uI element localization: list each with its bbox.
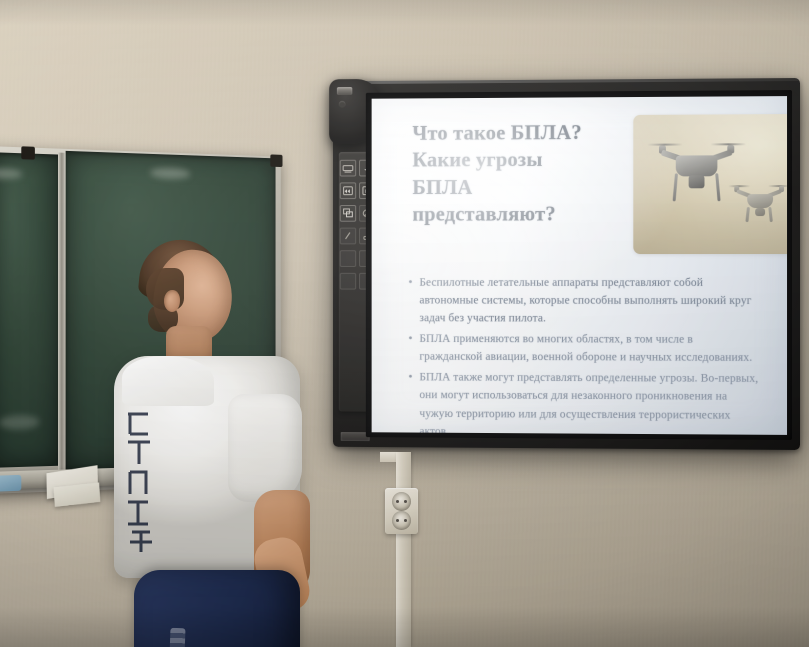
chalkboard-corner-bracket: [21, 146, 35, 159]
slide-title: Что такое БПЛА? Какие угрозы БПЛА предст…: [412, 119, 622, 228]
bullet-marker: •: [408, 330, 412, 366]
floor-shadow: [0, 607, 809, 647]
student-presenter: [108, 238, 320, 647]
outlet-socket: [392, 511, 411, 530]
photo-haze-overlay: [633, 114, 787, 254]
bullet-text-3: БПЛА также могут представлять определенн…: [419, 369, 759, 435]
keyboard-icon[interactable]: [339, 160, 355, 177]
slide-bullet-list: • Беспилотные летательные аппараты предс…: [408, 274, 759, 435]
projector-lens: [337, 87, 352, 95]
chalkboard-panel-left: [0, 152, 59, 468]
pen-icon[interactable]: [339, 228, 355, 245]
chalk-smudge: [0, 168, 22, 179]
outlet-socket: [392, 492, 411, 511]
interactive-whiteboard[interactable]: Что такое БПЛА? Какие угрозы БПЛА предст…: [333, 78, 800, 450]
shoulder: [122, 356, 214, 406]
classroom-scene: Что такое БПЛА? Какие угрозы БПЛА предст…: [0, 0, 809, 647]
list-item: • БПЛА также могут представлять определе…: [408, 369, 759, 435]
ceiling-shadow: [0, 0, 809, 26]
slide-title-line-4: представляют?: [412, 200, 622, 227]
copy-windows-icon[interactable]: [339, 205, 355, 222]
board-eraser: [0, 475, 21, 492]
chalk-smudge: [0, 415, 40, 430]
slide-title-line-2: Какие угрозы: [412, 146, 622, 174]
presentation-slide[interactable]: Что такое БПЛА? Какие угрозы БПЛА предст…: [372, 96, 787, 435]
ear: [164, 290, 180, 312]
drone-photo: [633, 114, 787, 254]
bullet-text-2: БПЛА применяются во многих областях, в т…: [419, 330, 759, 367]
bullet-marker: •: [408, 369, 412, 435]
list-item: • БПЛА применяются во многих областях, в…: [408, 330, 759, 367]
sleeve: [228, 394, 302, 502]
bullet-marker: •: [408, 274, 412, 327]
chalk-smudge: [150, 167, 190, 179]
chalkboard-corner-bracket: [270, 154, 282, 167]
chalkboard-hinge: [58, 153, 65, 470]
projector-indicator: [339, 101, 346, 108]
list-item: • Беспилотные летательные аппараты предс…: [408, 274, 759, 328]
blank-icon[interactable]: [339, 273, 355, 290]
blank-icon[interactable]: [339, 250, 355, 267]
previous-page-icon[interactable]: [339, 182, 355, 199]
tshirt-graphic-print: [122, 408, 168, 556]
power-outlet: [385, 488, 418, 534]
slide-title-line-1: Что такое БПЛА?: [412, 119, 622, 147]
bullet-text-1: Беспилотные летательные аппараты предста…: [419, 274, 759, 328]
slide-title-line-3: БПЛА: [412, 173, 622, 201]
